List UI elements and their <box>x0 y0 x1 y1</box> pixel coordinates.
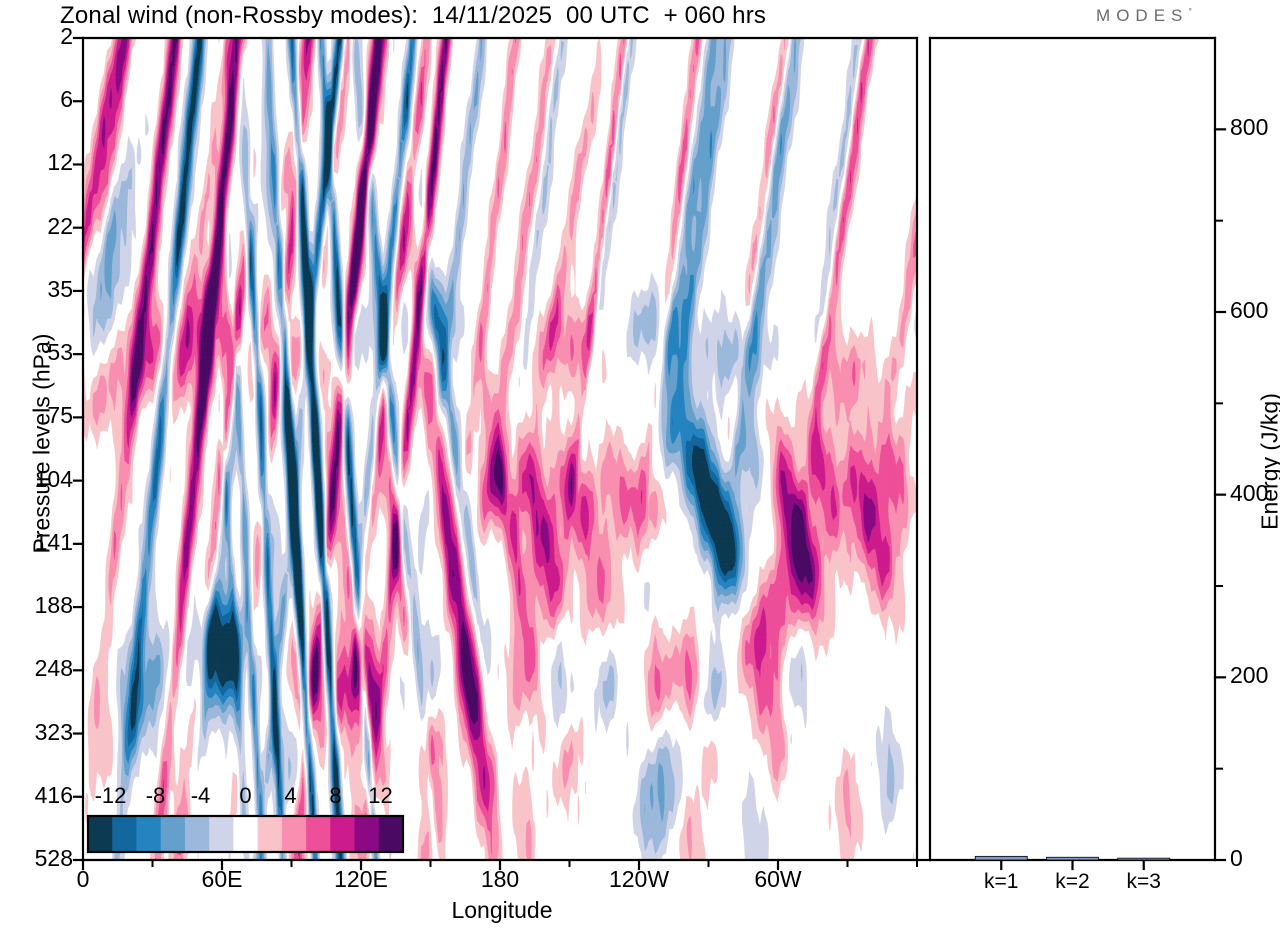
x-tick-label-0: 0 <box>23 866 143 893</box>
x-tick-label-120E: 120E <box>301 866 421 893</box>
y-tick-label-323: 323 <box>3 719 73 746</box>
k-tick-label-3: k=3 <box>1084 870 1204 894</box>
y-tick-label-6: 6 <box>3 86 73 113</box>
figure-root: Zonal wind (non-Rossby modes): 14/11/202… <box>0 0 1280 930</box>
y-tick-label-2: 2 <box>3 23 73 50</box>
x-tick-label-180: 180 <box>440 866 560 893</box>
y-tick-label-22: 22 <box>3 213 73 240</box>
x-tick-label-120W: 120W <box>579 866 699 893</box>
energy-tick-label-800: 800 <box>1230 114 1280 141</box>
y-tick-label-141: 141 <box>3 529 73 556</box>
y-tick-label-53: 53 <box>3 339 73 366</box>
y-tick-label-188: 188 <box>3 592 73 619</box>
energy-tick-label-400: 400 <box>1230 480 1280 507</box>
y-tick-label-248: 248 <box>3 655 73 682</box>
y-tick-label-35: 35 <box>3 276 73 303</box>
colorbar-label-12: 12 <box>351 783 411 809</box>
energy-tick-label-200: 200 <box>1230 662 1280 689</box>
y-tick-label-104: 104 <box>3 466 73 493</box>
y-tick-label-75: 75 <box>3 402 73 429</box>
energy-tick-label-0: 0 <box>1230 845 1280 872</box>
energy-tick-label-600: 600 <box>1230 297 1280 324</box>
x-tick-label-60W: 60W <box>718 866 838 893</box>
x-tick-label-60E: 60E <box>162 866 282 893</box>
y-tick-label-416: 416 <box>3 782 73 809</box>
y-tick-label-12: 12 <box>3 149 73 176</box>
